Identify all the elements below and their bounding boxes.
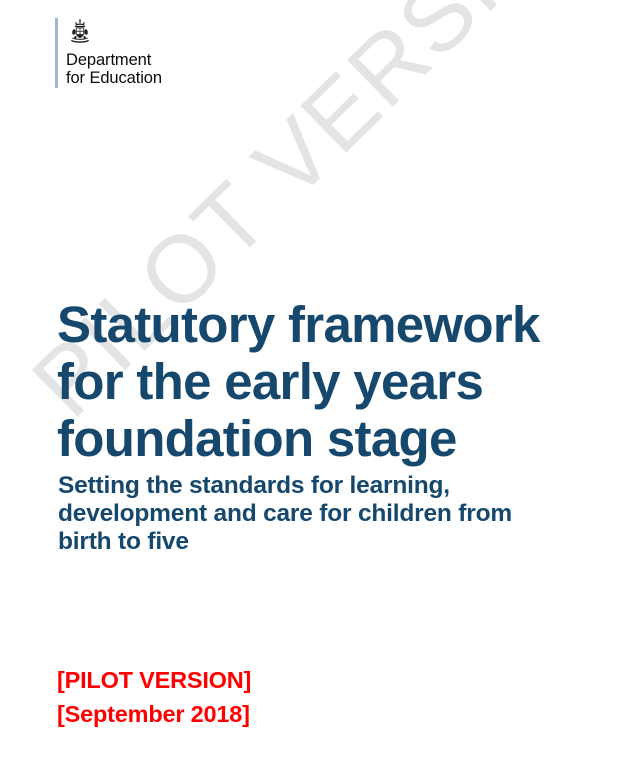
title-block: Statutory framework for the early years … xyxy=(57,296,602,556)
page-title-line-2: for the early years xyxy=(57,353,602,410)
department-name: Department for Education xyxy=(66,51,162,87)
department-line-1: Department xyxy=(66,51,151,69)
page-title: Statutory framework for the early years … xyxy=(57,296,602,467)
document-cover-page: PILOT VERSION xyxy=(0,0,640,770)
page-title-line-3: foundation stage xyxy=(57,410,602,467)
pilot-version-stamp: [PILOT VERSION] [September 2018] xyxy=(57,663,251,731)
department-line-2: for Education xyxy=(66,69,162,87)
uk-royal-crest-icon xyxy=(66,18,94,46)
department-for-education-logo: Department for Education xyxy=(55,18,162,88)
page-subtitle-line-2: development and care for children from xyxy=(58,500,602,528)
page-subtitle-line-3: birth to five xyxy=(58,528,602,556)
page-subtitle-line-1: Setting the standards for learning, xyxy=(58,472,602,500)
pilot-version-date: [September 2018] xyxy=(57,697,251,731)
page-subtitle: Setting the standards for learning, deve… xyxy=(58,472,602,556)
pilot-version-label: [PILOT VERSION] xyxy=(57,663,251,697)
page-title-line-1: Statutory framework xyxy=(57,296,602,353)
masthead-body: Department for Education xyxy=(58,18,162,88)
